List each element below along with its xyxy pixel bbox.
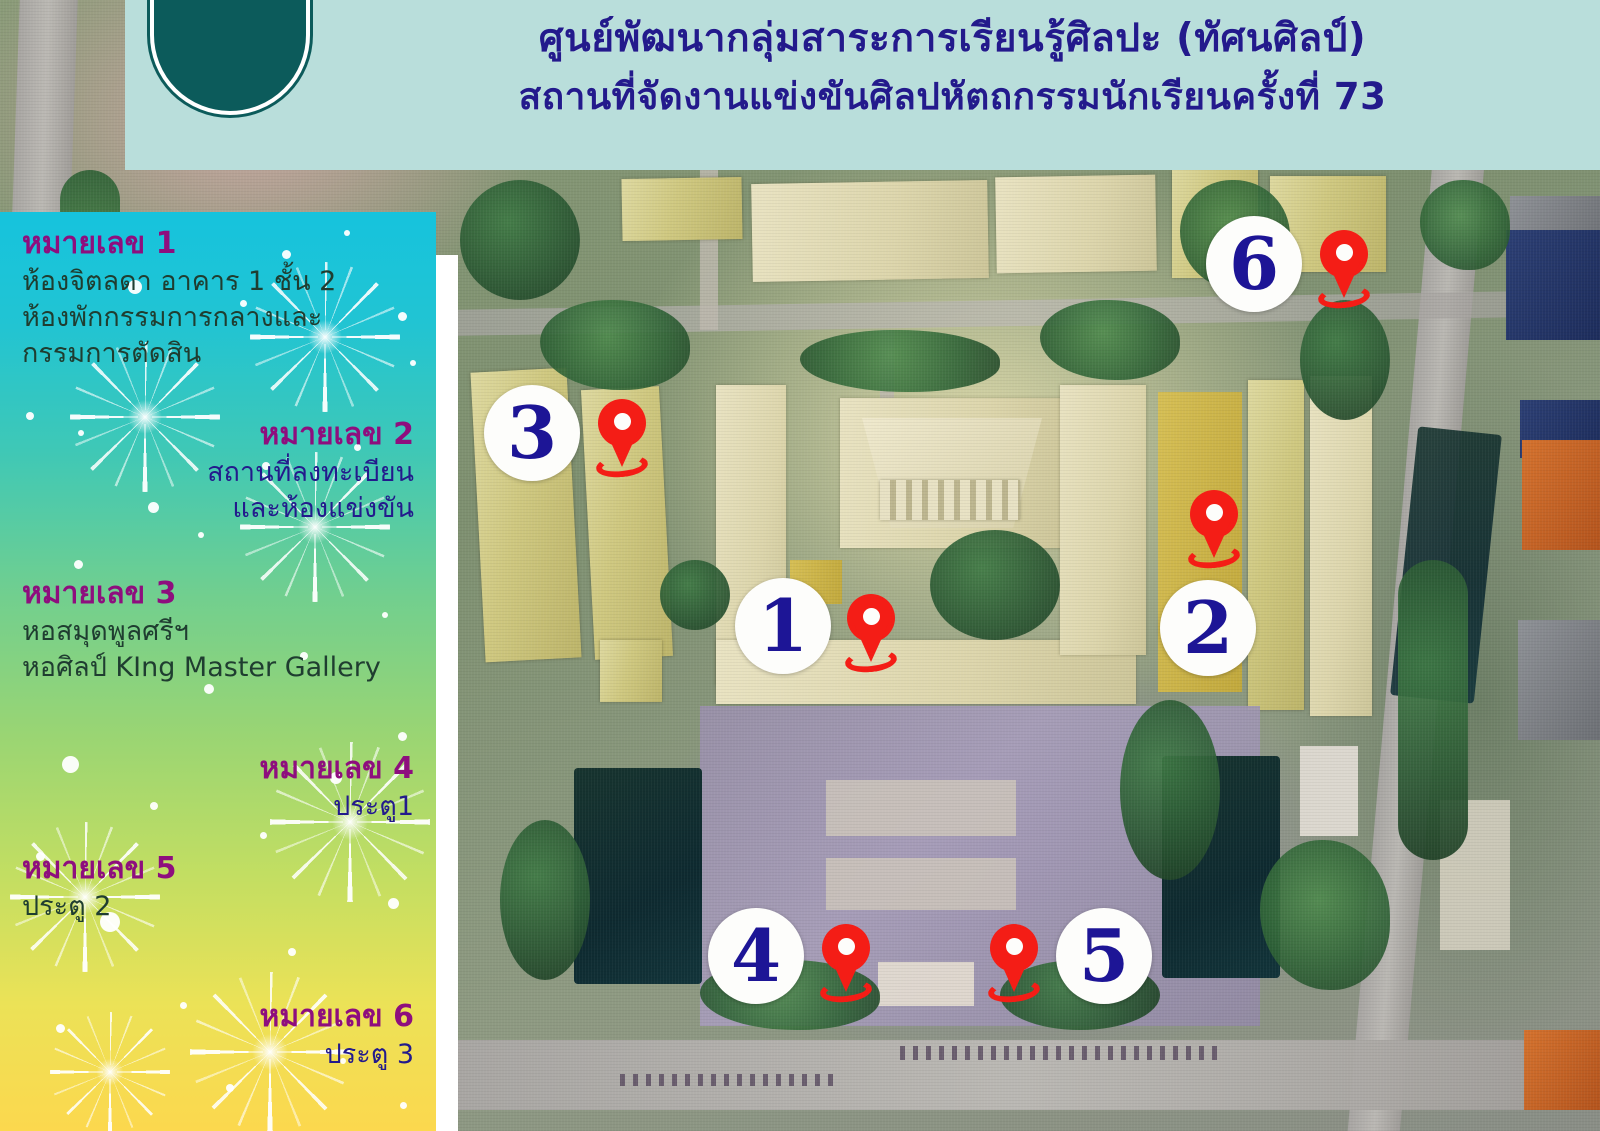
map-tree-cluster-9 bbox=[500, 820, 590, 980]
legend-entry-heading: หมายเลข 1 bbox=[22, 224, 414, 264]
legend-entry-line: และห้องแข่งขัน bbox=[22, 491, 414, 527]
legend-entry-line: ประตู 3 bbox=[22, 1037, 414, 1073]
legend-entry-1: หมายเลข 1 ห้องจิตลดา อาคาร 1 ชั้น 2 ห้อง… bbox=[0, 224, 436, 372]
header-banner: ศูนย์พัฒนากลุ่มสาระการเรียนรู้ศิลปะ (ทัศ… bbox=[125, 0, 1600, 170]
legend-entry-line: กรรมการตัดสิน bbox=[22, 336, 414, 372]
decor-dot bbox=[226, 1084, 234, 1092]
legend-entry-heading: หมายเลข 3 bbox=[22, 574, 414, 614]
map-building-right-2 bbox=[1506, 230, 1600, 340]
legend-entry-line: สถานที่ลงทะเบียน bbox=[22, 455, 414, 491]
map-pin-icon[interactable] bbox=[1186, 490, 1242, 568]
legend-entry-heading: หมายเลข 5 bbox=[22, 849, 414, 889]
map-building-right-4 bbox=[1522, 440, 1600, 550]
page-title: ศูนย์พัฒนากลุ่มสาระการเรียนรู้ศิลปะ (ทัศ… bbox=[325, 10, 1580, 68]
legend-sidebar: หมายเลข 1 ห้องจิตลดา อาคาร 1 ชั้น 2 ห้อง… bbox=[0, 212, 436, 1131]
map-building-right-5 bbox=[1518, 620, 1600, 740]
map-parked-cars-row bbox=[900, 1046, 1220, 1060]
legend-white-edge bbox=[436, 255, 458, 1131]
shield-badge-icon bbox=[150, 0, 310, 115]
legend-entry-heading: หมายเลข 4 bbox=[22, 749, 414, 789]
map-pin-icon[interactable] bbox=[986, 924, 1042, 1002]
decor-dot bbox=[260, 832, 267, 839]
marker-number-badge[interactable]: 4 bbox=[708, 908, 804, 1004]
map-pin-icon[interactable] bbox=[1316, 230, 1372, 308]
map-pond-west bbox=[574, 768, 702, 984]
marker-number-badge[interactable]: 5 bbox=[1056, 908, 1152, 1004]
map-marker-1[interactable]: 1 bbox=[735, 578, 899, 674]
map-building-right-8 bbox=[1300, 746, 1358, 836]
map-tree-cluster-5 bbox=[930, 530, 1060, 640]
map-plaza-pattern-1 bbox=[826, 780, 1016, 836]
decor-dot bbox=[74, 560, 83, 569]
legend-entry-2: หมายเลข 2 สถานที่ลงทะเบียน และห้องแข่งขั… bbox=[0, 415, 436, 527]
legend-entry-line: หอศิลป์ KIng Master Gallery bbox=[22, 650, 414, 686]
map-building-west-small bbox=[600, 640, 662, 702]
marker-number-badge[interactable]: 3 bbox=[484, 385, 580, 481]
legend-entry-line: ห้องพักกรรมการกลางและ bbox=[22, 300, 414, 336]
map-building-north-3 bbox=[995, 175, 1157, 274]
legend-entry-heading: หมายเลข 2 bbox=[22, 415, 414, 455]
map-pin-icon[interactable] bbox=[594, 399, 650, 477]
marker-number-badge[interactable]: 6 bbox=[1206, 216, 1302, 312]
legend-entry-5: หมายเลข 5 ประตู 2 bbox=[0, 849, 436, 925]
page-subtitle: สถานที่จัดงานแข่งขันศิลปหัตถกรรมนักเรียน… bbox=[325, 68, 1580, 126]
legend-entry-line: ประตู 2 bbox=[22, 889, 414, 925]
map-tree-cluster-3 bbox=[660, 560, 730, 630]
map-tree-cluster-7 bbox=[1120, 700, 1220, 880]
map-building-east-long-3 bbox=[1310, 376, 1372, 716]
legend-entry-6: หมายเลข 6 ประตู 3 bbox=[0, 997, 436, 1073]
map-tree-cluster-1 bbox=[460, 180, 580, 300]
map-plaza-pavilion bbox=[878, 962, 974, 1006]
map-building-right-6 bbox=[1524, 1030, 1600, 1110]
decor-dot bbox=[398, 732, 407, 741]
decor-dot bbox=[198, 532, 204, 538]
map-building-central-portico bbox=[880, 480, 1020, 520]
legend-entry-4: หมายเลข 4 ประตู1 bbox=[0, 749, 436, 825]
marker-number-badge[interactable]: 1 bbox=[735, 578, 831, 674]
map-building-north-1 bbox=[621, 177, 742, 241]
map-tree-cluster-13 bbox=[1398, 560, 1468, 860]
map-marker-5[interactable]: 5 bbox=[986, 908, 1152, 1004]
decor-dot bbox=[400, 1102, 407, 1109]
map-marker-4[interactable]: 4 bbox=[708, 908, 874, 1004]
map-marker-2[interactable]: 2 bbox=[1160, 490, 1256, 676]
map-marker-3[interactable]: 3 bbox=[484, 385, 650, 481]
map-building-north-2 bbox=[751, 180, 989, 282]
decor-dot bbox=[288, 948, 296, 956]
map-marker-6[interactable]: 6 bbox=[1206, 216, 1372, 312]
map-parked-cars-row-2 bbox=[620, 1074, 840, 1086]
map-building-east-wing bbox=[1060, 385, 1146, 655]
legend-entry-heading: หมายเลข 6 bbox=[22, 997, 414, 1037]
map-pin-icon[interactable] bbox=[818, 924, 874, 1002]
map-building-east-long-2 bbox=[1248, 380, 1304, 710]
header-title-group: ศูนย์พัฒนากลุ่มสาระการเรียนรู้ศิลปะ (ทัศ… bbox=[325, 10, 1580, 126]
legend-entry-line: ประตู1 bbox=[22, 789, 414, 825]
marker-number-badge[interactable]: 2 bbox=[1160, 580, 1256, 676]
legend-entry-3: หมายเลข 3 หอสมุดพูลศรีฯ หอศิลป์ KIng Mas… bbox=[0, 574, 436, 686]
map-pin-icon[interactable] bbox=[843, 594, 899, 672]
legend-entry-line: หอสมุดพูลศรีฯ bbox=[22, 614, 414, 650]
map-tree-cluster-15 bbox=[1300, 300, 1390, 420]
map-plaza-pattern-2 bbox=[826, 858, 1016, 910]
legend-entry-line: ห้องจิตลดา อาคาร 1 ชั้น 2 bbox=[22, 264, 414, 300]
